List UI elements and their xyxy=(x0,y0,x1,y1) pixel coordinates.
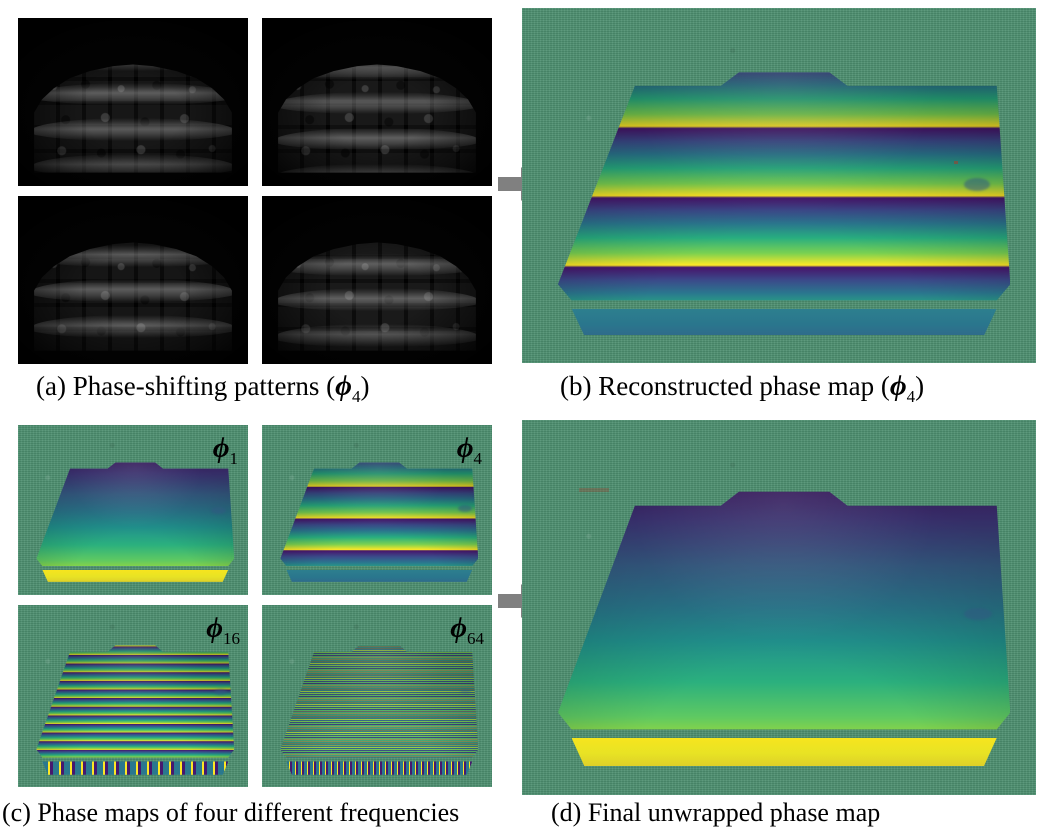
panel-b-surface xyxy=(522,8,1036,363)
caption-b-suffix: ) xyxy=(915,371,924,401)
phi-subscript: 4 xyxy=(352,387,361,406)
caption-a-text: (a) Phase-shifting patterns ( xyxy=(36,371,335,401)
panel-d-surface xyxy=(522,420,1036,795)
phase-map-phi-1: ϕ1 xyxy=(18,425,248,595)
caption-panel-a: (a) Phase-shifting patterns (ϕ4) xyxy=(36,372,369,405)
caption-panel-c: (c) Phase maps of four different frequen… xyxy=(2,800,459,826)
phi-symbol: ϕ4 xyxy=(890,370,915,402)
caption-b-text: (b) Reconstructed phase map ( xyxy=(560,371,890,401)
caption-panel-d: (d) Final unwrapped phase map xyxy=(551,800,880,826)
phase-shift-pattern-3 xyxy=(18,196,248,364)
phase-shift-pattern-1 xyxy=(18,18,248,186)
phase-map-phi-16: ϕ16 xyxy=(18,605,248,787)
phi-label-16: ϕ16 xyxy=(206,612,240,649)
phi-label-64: ϕ64 xyxy=(450,612,484,649)
phase-shift-pattern-2 xyxy=(262,18,492,186)
phi-label-4: ϕ4 xyxy=(457,432,482,469)
panel-a xyxy=(0,0,520,365)
figure-root: (a) Phase-shifting patterns (ϕ4) (b) Rec… xyxy=(0,0,1044,838)
phi-subscript: 4 xyxy=(907,387,916,406)
phase-map-phi-64: ϕ64 xyxy=(262,605,492,787)
caption-panel-b: (b) Reconstructed phase map (ϕ4) xyxy=(560,372,924,405)
phi-label-1: ϕ1 xyxy=(213,432,238,469)
phi-symbol: ϕ4 xyxy=(335,370,360,402)
caption-a-suffix: ) xyxy=(360,371,369,401)
phase-map-phi-4: ϕ4 xyxy=(262,425,492,595)
panel-c: ϕ1 ϕ4 xyxy=(0,420,520,795)
phase-shift-pattern-4 xyxy=(262,196,492,364)
